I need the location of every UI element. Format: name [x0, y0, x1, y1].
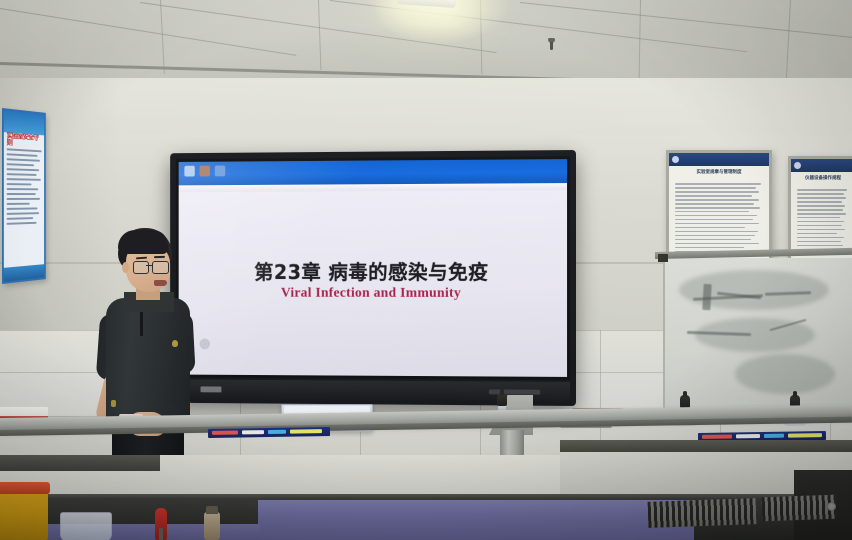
test-tube-rack-right [762, 495, 837, 522]
lecturer-polo-shirt [106, 298, 190, 430]
whiteboard [663, 258, 852, 408]
slide-watermark-icon [200, 339, 210, 350]
poster-title: 实验室规章与管理制度 [675, 169, 763, 180]
red-tool-stem [159, 528, 163, 540]
bench-safety-label-left [208, 427, 330, 438]
reagent-bottle-cap [206, 506, 218, 514]
poster-text-lines [7, 148, 42, 228]
poster-header-band [669, 153, 769, 166]
safety-notice-poster: 实验室安全守则 [2, 108, 46, 284]
lecturer-ear [122, 262, 129, 273]
classroom-photo-scene: 实验室安全守则 实验室规章与管理制度 [0, 0, 852, 540]
side-counter-top [0, 455, 160, 471]
display-brand-label [200, 386, 221, 392]
eyeglasses-bridge-icon [146, 265, 152, 266]
display-bezel: 第23章 病毒的感染与免疫 Viral Infection and Immuni… [176, 156, 570, 380]
start-icon[interactable] [184, 166, 194, 177]
whiteboard-rail-end-cap [658, 254, 668, 262]
poster-text-lines [675, 183, 763, 255]
app-icon-orange[interactable] [200, 166, 210, 177]
lecturer-shirt-emblem [172, 340, 178, 347]
biohazard-bin-lid [0, 482, 50, 494]
counter-knob[interactable] [827, 502, 836, 511]
lecturer-brow-right [154, 256, 165, 258]
eyeglasses-right-lens-icon [152, 261, 169, 274]
test-tube-rack-left [648, 498, 757, 528]
display-screen[interactable]: 第23章 病毒的感染与免疫 Viral Infection and Immuni… [179, 159, 567, 377]
poster-title: 仪器设备操作规程 [797, 175, 849, 186]
slide-title-chinese: 第23章 病毒的感染与免疫 [179, 256, 567, 285]
yellow-biohazard-bin [0, 486, 48, 540]
poster-header-band [791, 159, 852, 172]
poster-header-band [4, 110, 44, 135]
poster-title: 实验室安全守则 [7, 132, 42, 147]
clear-beaker [60, 512, 112, 540]
right-counter-top [560, 440, 852, 452]
lecturer-fringe [118, 230, 168, 254]
ceiling-sprinkler-head [548, 38, 555, 43]
windows-taskbar[interactable] [179, 159, 567, 185]
app-icon-blue[interactable] [215, 166, 225, 177]
lecturer-shirt-badge [111, 400, 116, 407]
framed-notice-left: 实验室规章与管理制度 [666, 150, 772, 264]
slide-title-english: Viral Infection and Immunity [179, 286, 567, 302]
lecturer-mouth [154, 280, 167, 286]
powerpoint-slide[interactable]: 第23章 病毒的感染与免疫 Viral Infection and Immuni… [179, 190, 567, 377]
front-lab-counter [258, 500, 694, 540]
reagent-bottle [204, 512, 220, 540]
eyeglasses-left-lens-icon [133, 261, 149, 274]
interactive-flat-panel-display[interactable]: 第23章 病毒的感染与免疫 Viral Infection and Immuni… [170, 150, 576, 406]
institution-logo-icon [672, 156, 679, 163]
poster-text-lines [797, 189, 849, 257]
institution-logo-icon [794, 162, 801, 169]
poster-footer-band [4, 264, 44, 282]
